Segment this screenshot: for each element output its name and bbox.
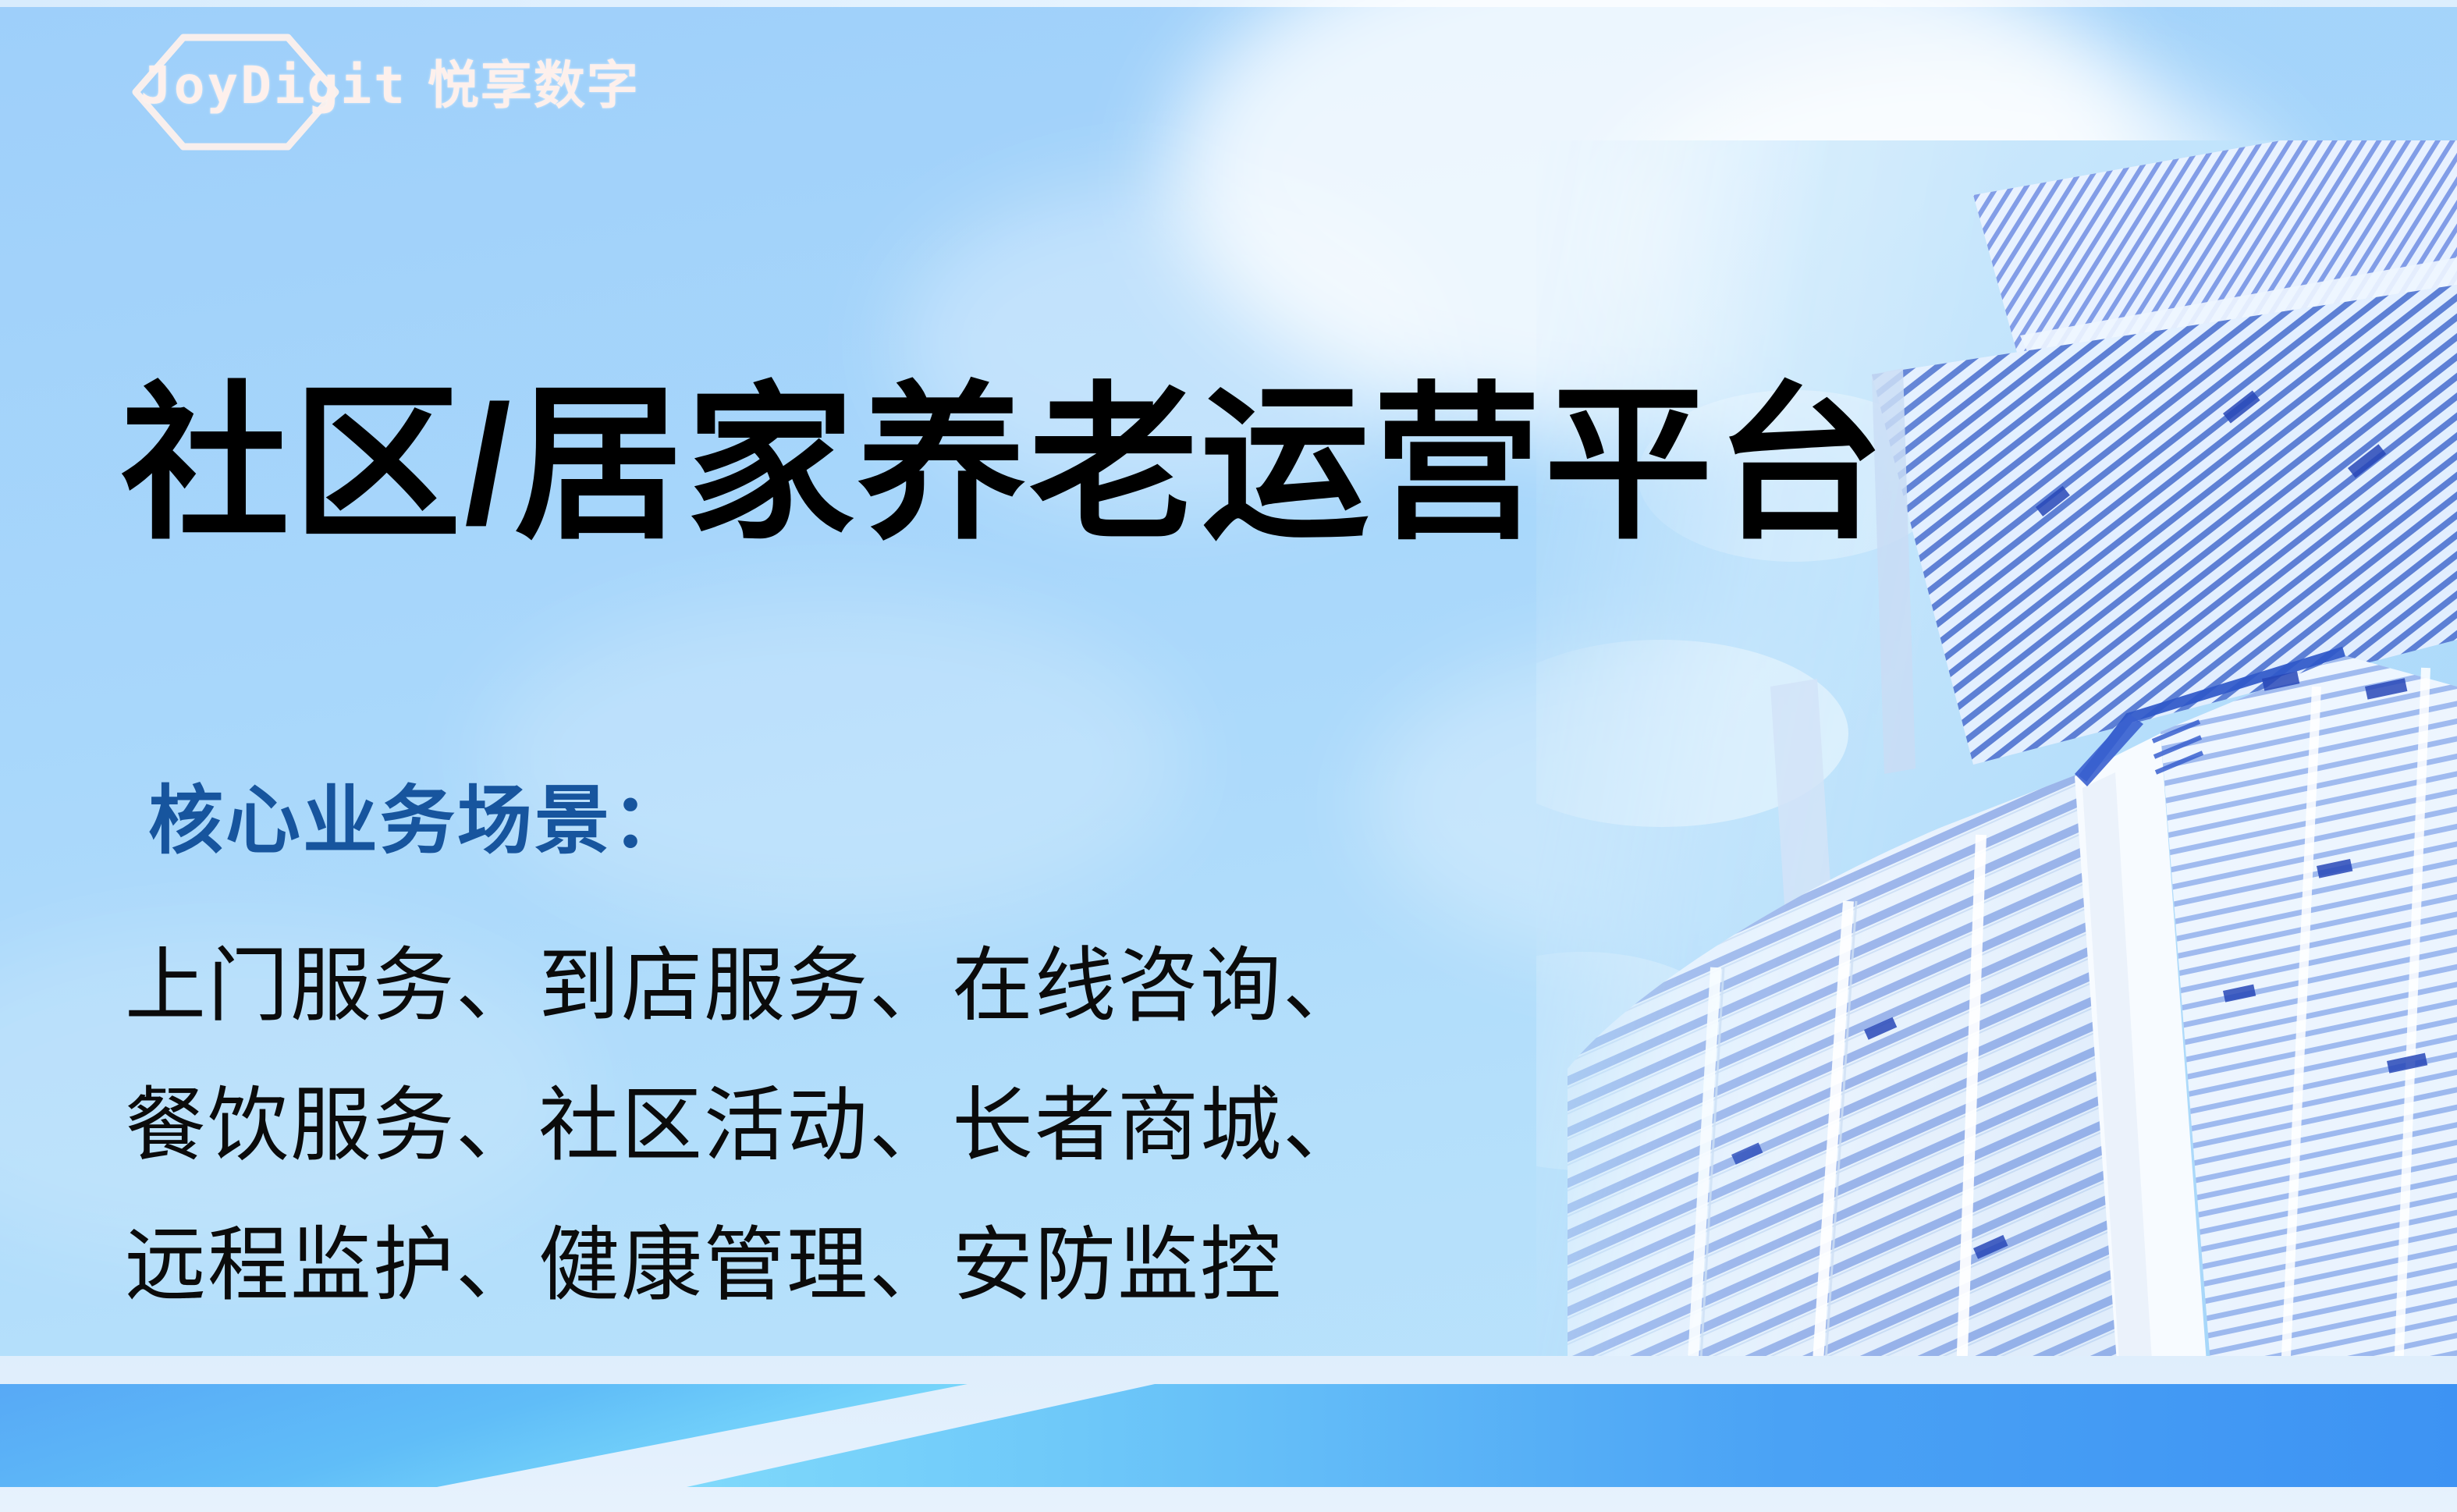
scenario-list: 上门服务、到店服务、在线咨询、 餐饮服务、社区活动、长者商城、 远程监护、健康管… xyxy=(125,917,1685,1336)
scenario-line: 上门服务、到店服务、在线咨询、 xyxy=(125,917,1685,1056)
brand-cjk-name: 悦享数字 xyxy=(428,59,640,111)
cloud-decoration xyxy=(484,593,1186,928)
top-edge-strip xyxy=(0,0,2457,7)
scenario-line: 餐饮服务、社区活动、长者商城、 xyxy=(125,1056,1685,1196)
section-label: 核心业务场景： xyxy=(148,780,689,863)
scenario-line: 远程监护、健康管理、安防监控 xyxy=(125,1196,1685,1336)
brand-latin-name: JoyDigit xyxy=(140,60,407,112)
page-title: 社区/居家养老运营平台 xyxy=(121,371,2072,559)
bottom-decorative-banner xyxy=(0,1356,2457,1512)
brand-wordmark: JoyDigit 悦享数字 xyxy=(140,59,640,112)
slide-root: JoyDigit 悦享数字 社区/居家养老运营平台 核心业务场景： 上门服务、到… xyxy=(0,0,2457,1512)
brand-logo[interactable]: JoyDigit 悦享数字 xyxy=(117,37,710,147)
